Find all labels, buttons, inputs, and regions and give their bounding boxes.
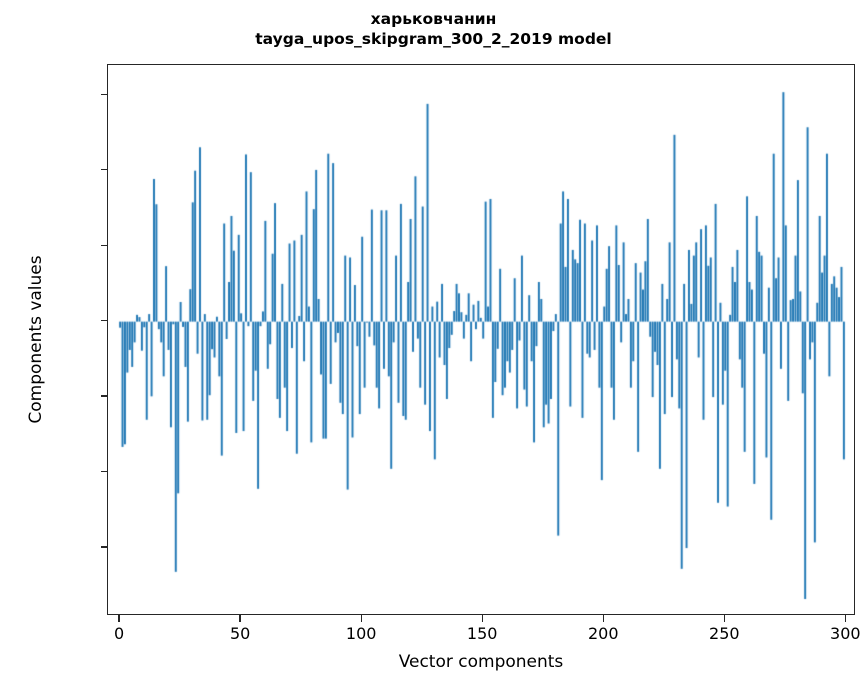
x-tick-mark: [361, 615, 362, 622]
y-tick-mark: [101, 169, 108, 170]
x-tick-mark: [482, 615, 483, 622]
plot-axes-area: [107, 64, 855, 615]
y-tick-mark: [101, 395, 108, 396]
y-axis-label: Components values: [26, 64, 46, 615]
figure-container: харьковчанин tayga_upos_skipgram_300_2_2…: [0, 0, 867, 696]
chart-title: харьковчанин tayga_upos_skipgram_300_2_2…: [0, 10, 867, 50]
x-tick-label: 0: [114, 624, 124, 643]
x-tick-mark: [239, 615, 240, 622]
y-tick-mark: [101, 320, 108, 321]
x-tick-mark: [724, 615, 725, 622]
x-tick-mark: [118, 615, 119, 622]
x-tick-label: 300: [830, 624, 861, 643]
y-tick-mark: [101, 471, 108, 472]
bar-series-canvas: [108, 65, 855, 615]
x-tick-mark: [845, 615, 846, 622]
y-tick-mark: [101, 546, 108, 547]
x-tick-mark: [603, 615, 604, 622]
x-tick-label: 150: [467, 624, 498, 643]
y-axis-ticks: 0.60.40.20.0−0.2−0.4−0.6: [0, 0, 107, 696]
x-tick-label: 200: [588, 624, 619, 643]
y-tick-mark: [101, 245, 108, 246]
x-tick-label: 50: [230, 624, 250, 643]
x-axis-label: Vector components: [107, 652, 855, 672]
x-tick-label: 100: [346, 624, 377, 643]
y-tick-mark: [101, 94, 108, 95]
x-tick-label: 250: [709, 624, 740, 643]
